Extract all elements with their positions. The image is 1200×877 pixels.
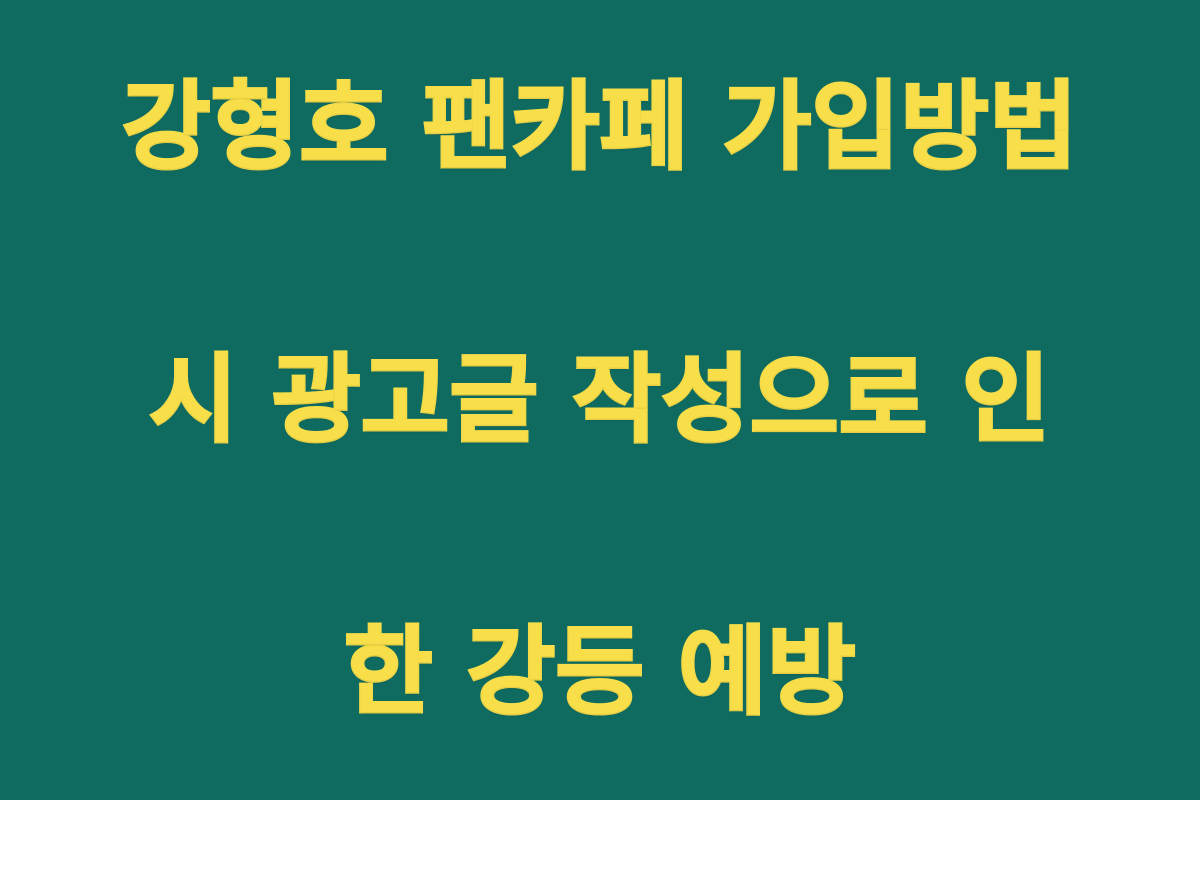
page-title: 강형호 팬카페 가입방법 시 광고글 작성으로 인 한 강등 예방 bbox=[70, 0, 1130, 877]
headline-line-3: 한 강등 예방 bbox=[70, 604, 1130, 740]
headline-line-1: 강형호 팬카페 가입방법 bbox=[70, 59, 1130, 195]
text-card: 강형호 팬카페 가입방법 시 광고글 작성으로 인 한 강등 예방 bbox=[0, 0, 1200, 800]
headline-line-2: 시 광고글 작성으로 인 bbox=[70, 332, 1130, 468]
